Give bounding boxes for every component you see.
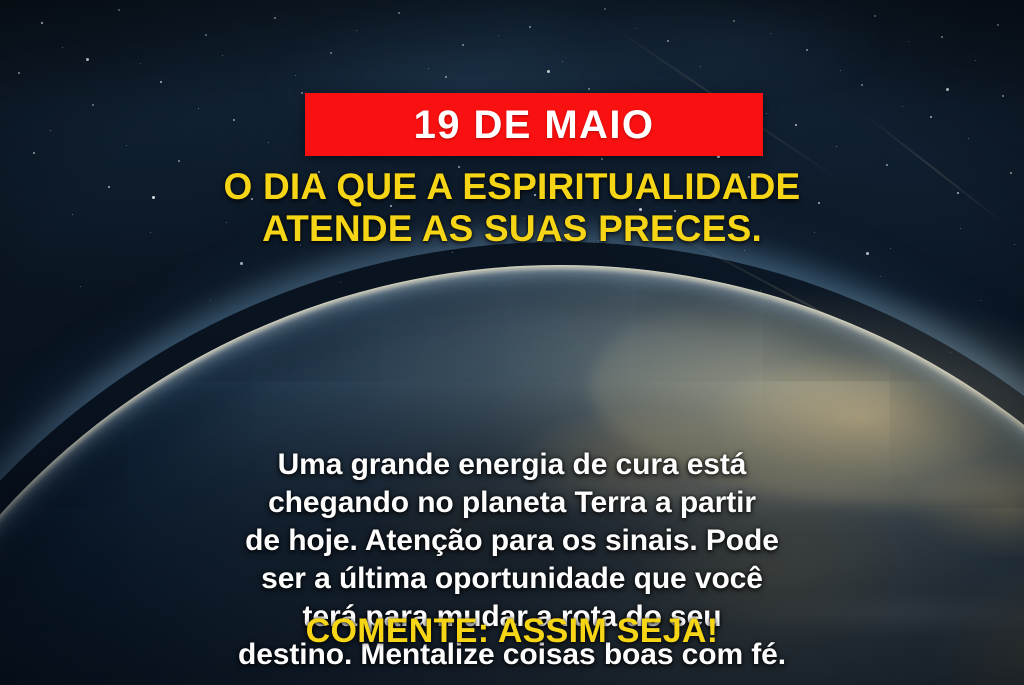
poster-canvas: 19 DE MAIO O DIA QUE A ESPIRITUALIDADE A… — [0, 0, 1024, 685]
headline: O DIA QUE A ESPIRITUALIDADE ATENDE AS SU… — [0, 166, 1024, 250]
date-banner: 19 DE MAIO — [305, 93, 763, 156]
headline-line-2: ATENDE AS SUAS PRECES. — [40, 208, 984, 250]
body-line-2: chegando no planeta Terra a partir — [50, 484, 974, 522]
body-line-1: Uma grande energia de cura está — [50, 446, 974, 484]
body-line-4: ser a última oportunidade que você — [50, 560, 974, 598]
call-to-action-text: COMENTE: ASSIM SEJA! — [0, 612, 1024, 651]
body-line-3: de hoje. Atenção para os sinais. Pode — [50, 522, 974, 560]
headline-line-1: O DIA QUE A ESPIRITUALIDADE — [40, 166, 984, 208]
date-banner-text: 19 DE MAIO — [414, 105, 655, 145]
poster-content: 19 DE MAIO O DIA QUE A ESPIRITUALIDADE A… — [0, 0, 1024, 685]
